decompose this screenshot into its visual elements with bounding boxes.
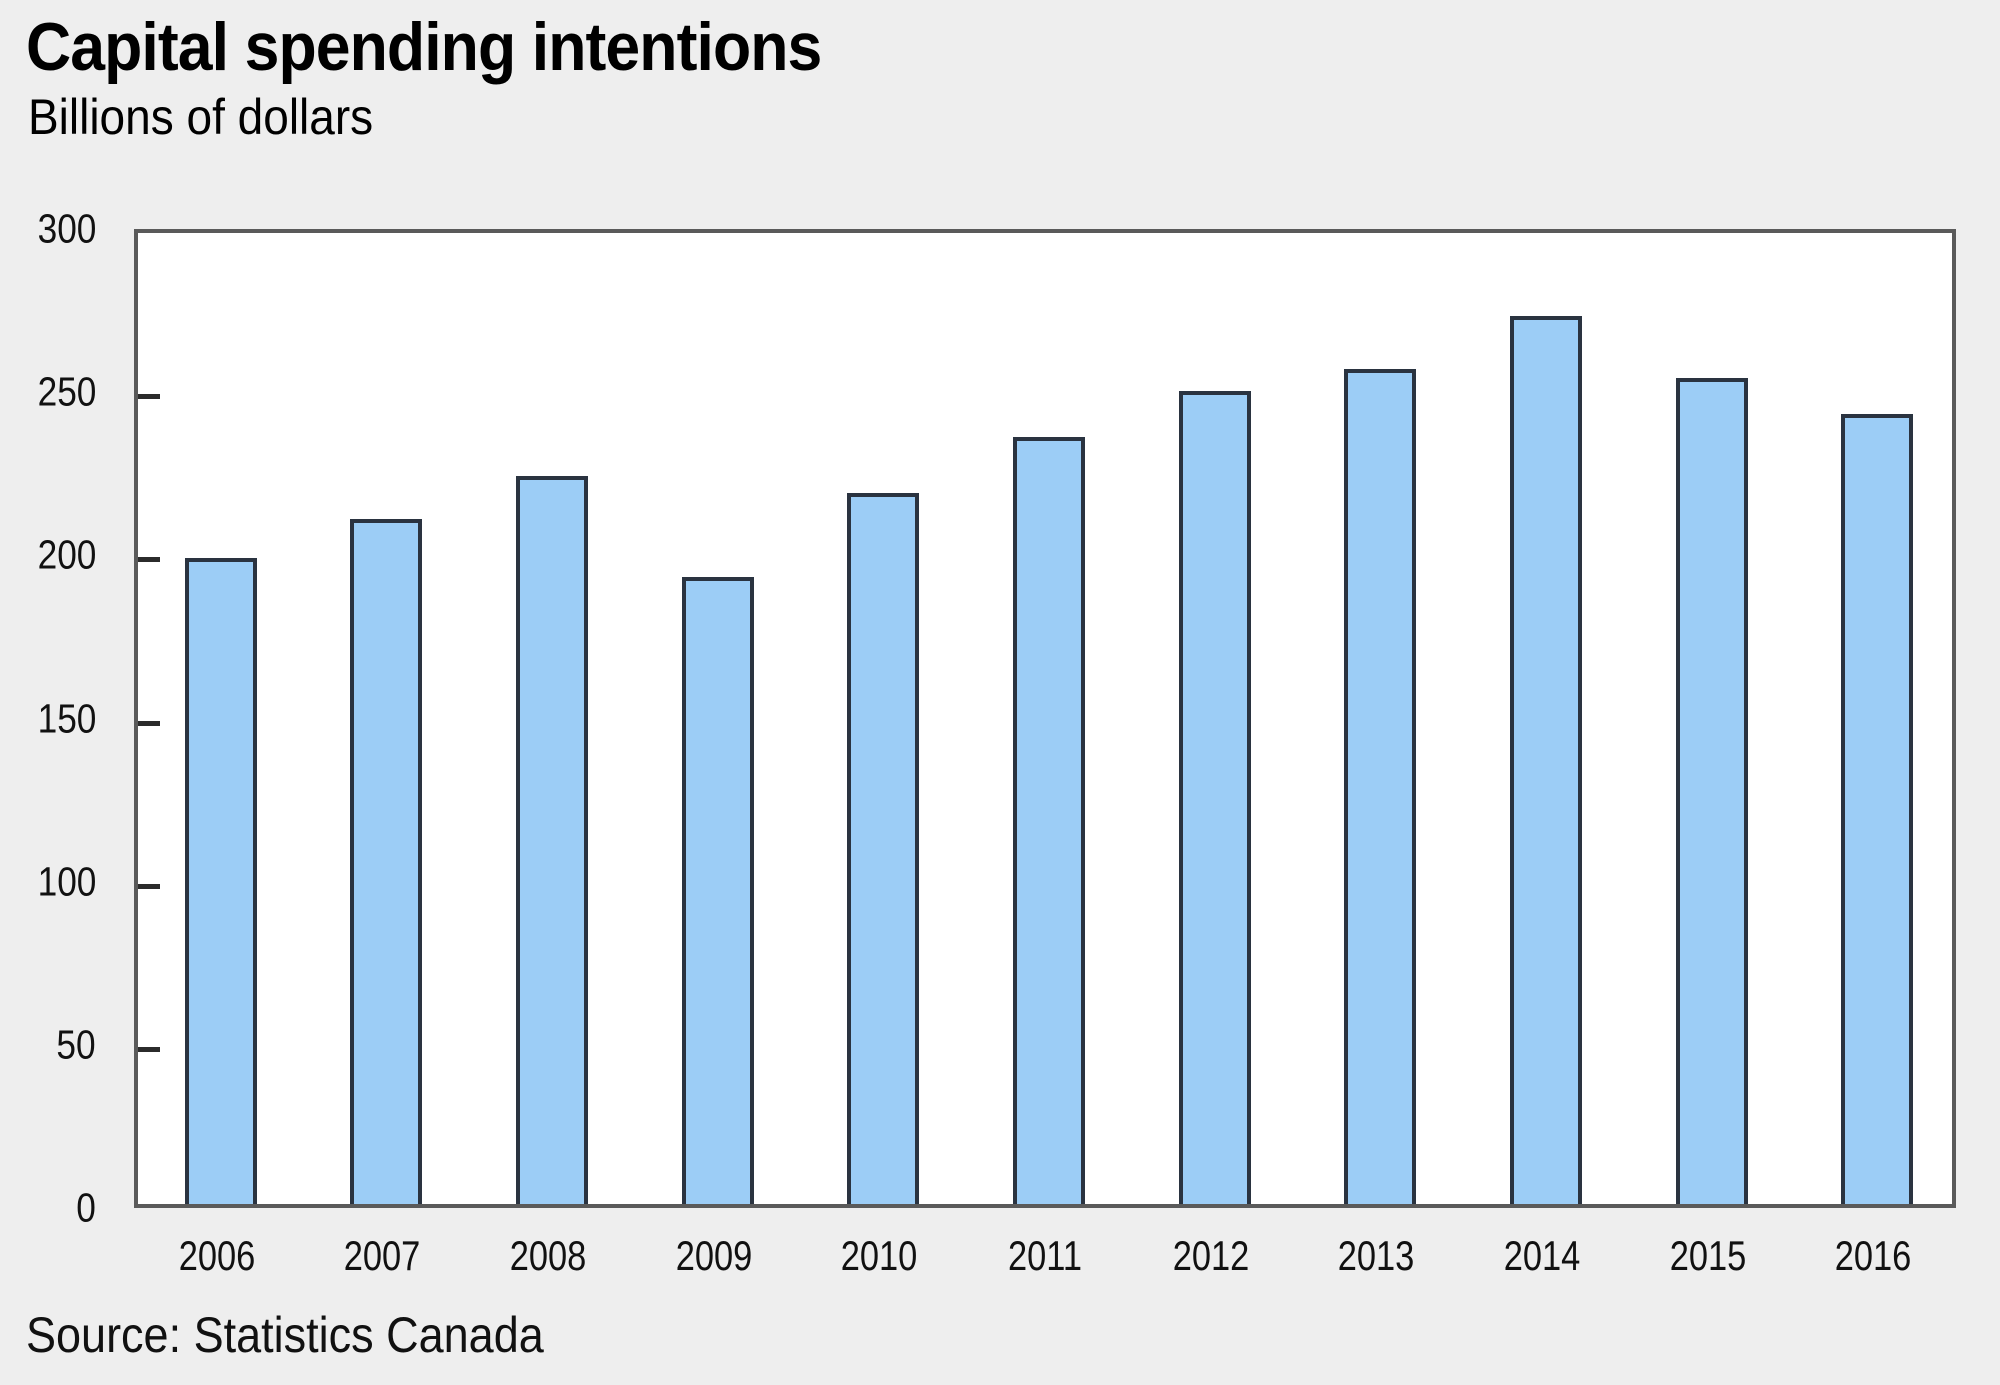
page-title: Capital spending intentions — [26, 8, 821, 86]
x-axis-tick-label: 2011 — [1008, 1232, 1082, 1280]
bar-series — [138, 233, 1952, 1204]
x-axis-tick-label: 2008 — [510, 1232, 587, 1280]
y-axis-tick — [138, 1047, 160, 1052]
y-axis-tick — [138, 884, 160, 889]
x-axis-tick-label: 2007 — [344, 1232, 421, 1280]
bar — [516, 476, 588, 1204]
y-axis-tick-label: 300 — [37, 206, 96, 253]
y-axis-tick-label: 100 — [37, 858, 96, 905]
bar — [847, 493, 919, 1204]
bar — [350, 519, 422, 1204]
x-axis-tick-label: 2006 — [179, 1232, 256, 1280]
x-axis-tick-label: 2009 — [675, 1232, 752, 1280]
y-axis-tick-label: 0 — [76, 1185, 96, 1232]
bar — [1510, 316, 1582, 1204]
x-axis-tick-label: 2015 — [1669, 1232, 1746, 1280]
y-axis-tick — [138, 721, 160, 726]
y-axis-labels: 050100150200250300 — [0, 229, 118, 1208]
bar — [1676, 378, 1748, 1204]
y-axis-tick — [138, 394, 160, 399]
bar — [1841, 414, 1913, 1204]
x-axis-tick-label: 2016 — [1835, 1232, 1912, 1280]
y-axis-tick-label: 150 — [37, 695, 96, 742]
y-axis-tick — [138, 557, 160, 562]
x-axis-tick-label: 2014 — [1504, 1232, 1581, 1280]
bar — [1344, 369, 1416, 1204]
bar — [185, 558, 257, 1204]
page-subtitle: Billions of dollars — [28, 88, 373, 146]
y-axis-tick-label: 250 — [37, 369, 96, 416]
x-axis-tick-label: 2012 — [1172, 1232, 1249, 1280]
x-axis-tick-label: 2010 — [841, 1232, 918, 1280]
y-axis-tick-label: 200 — [37, 532, 96, 579]
plot-area — [134, 229, 1956, 1208]
bar — [1179, 391, 1251, 1204]
bar — [682, 577, 754, 1204]
chart-page: Capital spending intentions Billions of … — [0, 0, 2000, 1385]
x-axis-labels: 2006200720082009201020112012201320142015… — [134, 1232, 1956, 1292]
bar — [1013, 437, 1085, 1204]
y-axis-tick-label: 50 — [57, 1021, 96, 1068]
x-axis-tick-label: 2013 — [1338, 1232, 1415, 1280]
source-note: Source: Statistics Canada — [26, 1306, 544, 1364]
